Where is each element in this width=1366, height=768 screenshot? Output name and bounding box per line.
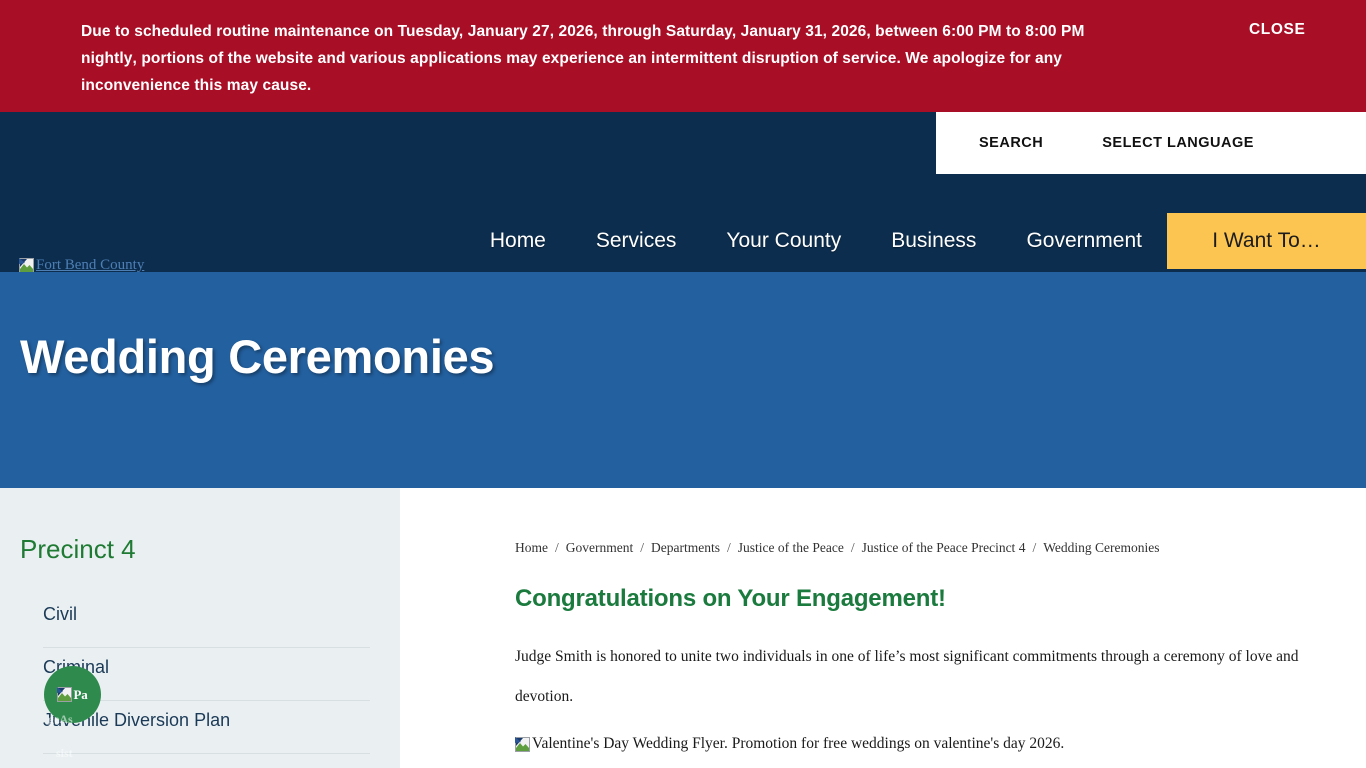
alert-close-button[interactable]: CLOSE <box>1243 20 1311 40</box>
breadcrumb-item-government[interactable]: Government <box>566 540 633 555</box>
sidebar-item-civil[interactable]: Civil <box>43 595 370 647</box>
site-header: Fort Bend County SEARCH SELECT LANGUAGE … <box>0 112 1366 272</box>
breadcrumb-item-home[interactable]: Home <box>515 540 548 555</box>
select-language-button[interactable]: SELECT LANGUAGE <box>1096 134 1260 152</box>
sidebar-title: Precinct 4 <box>0 488 400 564</box>
nav-item-home[interactable]: Home <box>465 210 571 272</box>
flyer-alt-text: Valentine's Day Wedding Flyer. Promotion… <box>532 735 1064 753</box>
breadcrumb-item-departments[interactable]: Departments <box>651 540 720 555</box>
page-assist-label: Pa <box>73 689 87 701</box>
breadcrumb-separator: / <box>727 540 731 555</box>
flyer-image-placeholder: Valentine's Day Wedding Flyer. Promotion… <box>515 735 1326 753</box>
page-assist-widget-button[interactable]: Pa <box>44 666 101 723</box>
breadcrumb-item-current: Wedding Ceremonies <box>1043 540 1159 555</box>
sidebar: Precinct 4 Civil Criminal Juvenile Diver… <box>0 488 400 768</box>
breadcrumb-separator: / <box>640 540 644 555</box>
breadcrumb-item-justice-of-the-peace[interactable]: Justice of the Peace <box>738 540 844 555</box>
alert-text-part-3: , portions of the website and various ap… <box>81 50 1062 94</box>
breadcrumb-separator: / <box>555 540 559 555</box>
main-content: Home/Government/Departments/Justice of t… <box>400 488 1366 768</box>
page-body: Precinct 4 Civil Criminal Juvenile Diver… <box>0 488 1366 768</box>
maintenance-alert-banner: Due to scheduled routine maintenance on … <box>0 0 1366 112</box>
breadcrumb-item-justice-of-the-peace-precinct-4[interactable]: Justice of the Peace Precinct 4 <box>862 540 1026 555</box>
alert-text-part-1: Due to scheduled routine maintenance on <box>81 23 398 40</box>
broken-image-icon <box>57 687 72 702</box>
page-hero-banner: Wedding Ceremonies <box>0 272 1366 488</box>
list-item: Civil <box>43 595 370 648</box>
content-paragraph: Judge Smith is honored to unite two indi… <box>515 637 1326 717</box>
nav-item-your-county[interactable]: Your County <box>701 210 866 272</box>
breadcrumb-separator: / <box>851 540 855 555</box>
main-navigation: Home Services Your County Business Gover… <box>0 210 1366 272</box>
search-button[interactable]: SEARCH <box>973 134 1049 152</box>
breadcrumb-separator: / <box>1032 540 1036 555</box>
nav-item-services[interactable]: Services <box>571 210 702 272</box>
i-want-to-button[interactable]: I Want To… <box>1167 213 1366 269</box>
nav-item-government[interactable]: Government <box>1001 210 1167 272</box>
page-title: Wedding Ceremonies <box>20 329 494 384</box>
breadcrumb: Home/Government/Departments/Justice of t… <box>515 540 1326 556</box>
utility-bar: SEARCH SELECT LANGUAGE <box>936 112 1366 174</box>
content-heading: Congratulations on Your Engagement! <box>515 585 1326 613</box>
broken-image-icon <box>515 737 530 752</box>
alert-message: Due to scheduled routine maintenance on … <box>0 0 1120 99</box>
nav-item-business[interactable]: Business <box>866 210 1001 272</box>
